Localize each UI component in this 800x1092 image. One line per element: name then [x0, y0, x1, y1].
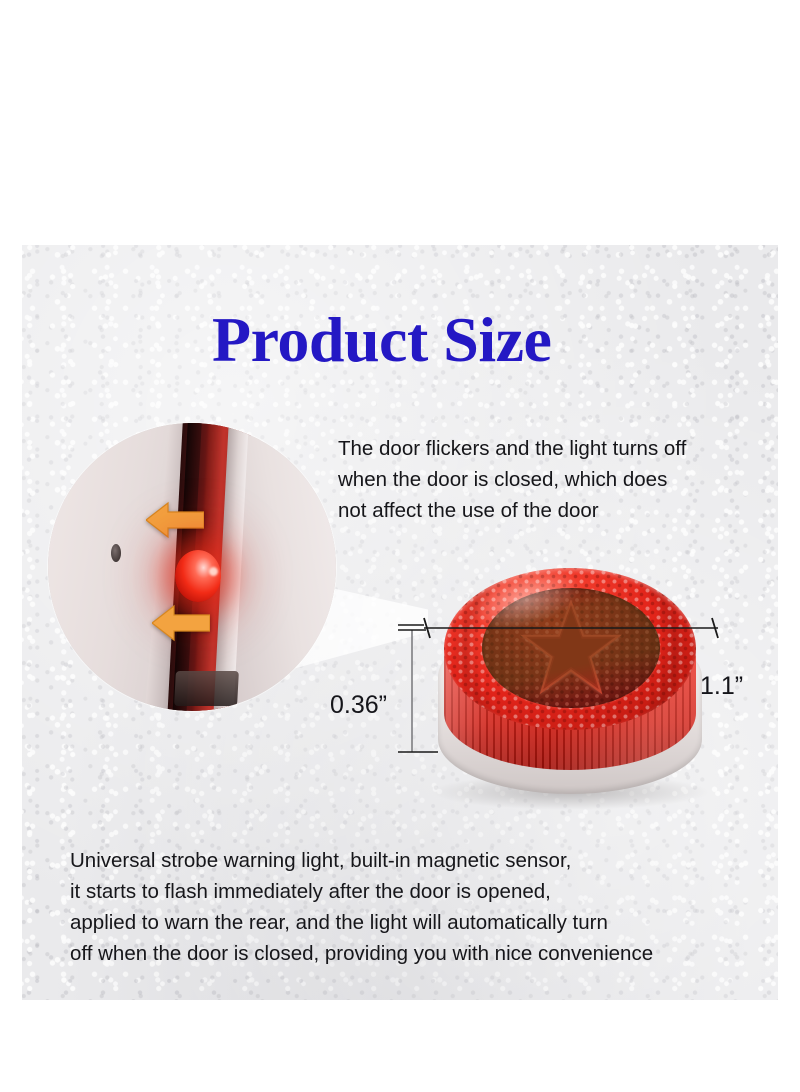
top-description-line: not affect the use of the door: [338, 495, 758, 526]
bottom-description-line: applied to warn the rear, and the light …: [70, 907, 770, 938]
top-description-line: The door flickers and the light turns of…: [338, 433, 758, 464]
bottom-description-line: off when the door is closed, providing y…: [70, 938, 770, 969]
bottom-description-line: Universal strobe warning light, built-in…: [70, 845, 770, 876]
bottom-description-paragraph: Universal strobe warning light, built-in…: [70, 845, 770, 969]
left-arrow-icon: [152, 604, 210, 642]
page-title: Product Size: [212, 308, 551, 372]
door-latch: [174, 671, 239, 706]
product-photo-strobe-light: [424, 566, 716, 808]
left-arrow-icon: [146, 501, 204, 539]
top-description-line: when the door is closed, which does: [338, 464, 758, 495]
inset-photo-door-led: [48, 423, 336, 711]
height-dimension-label: 0.36”: [330, 691, 387, 720]
car-door-right-panel: [232, 423, 336, 711]
width-dimension-label: 1.1”: [700, 672, 743, 701]
bottom-description-line: it starts to flash immediately after the…: [70, 876, 770, 907]
top-description-paragraph: The door flickers and the light turns of…: [338, 433, 758, 526]
